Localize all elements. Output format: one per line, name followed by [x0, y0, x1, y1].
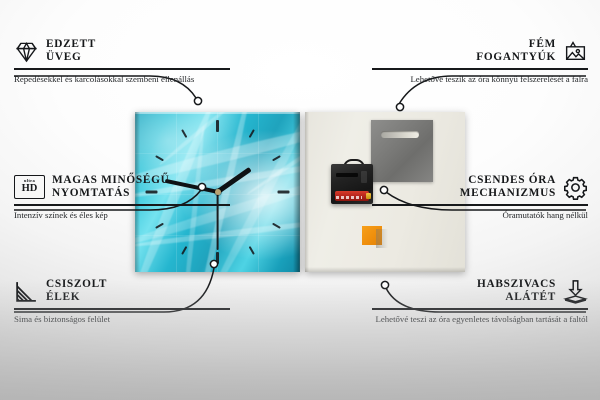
hanger-slot	[381, 131, 419, 138]
quartz-mechanism	[331, 164, 373, 204]
ultra-hd-large-label: HD	[22, 184, 38, 195]
callout-description: Repedésekkel és karcolásokkal szembeni e…	[14, 74, 230, 85]
battery-label	[336, 196, 362, 199]
callout-foam-backing: HABSZIVACSALÁTÉT Lehetővé teszi az óra e…	[372, 278, 588, 325]
callout-tempered-glass: EDZETTÜVEG Repedésekkel és karcolásokkal…	[14, 38, 230, 85]
mechanism-vent	[336, 173, 358, 177]
callout-rule	[372, 68, 588, 70]
arrow-onto-pad-icon	[563, 279, 588, 304]
callout-title: FÉMFOGANTYÚK	[476, 38, 556, 64]
beveled-edge-icon	[14, 279, 39, 304]
callout-rule	[372, 204, 588, 206]
callout-rule	[14, 68, 230, 70]
callout-polished-edges: CSISZOLTÉLEK Sima és biztonságos felület	[14, 278, 230, 325]
callout-rule	[372, 308, 588, 310]
callout-title: CSENDES ÓRAMECHANIZMUS	[460, 174, 556, 200]
back-bottom-shadow	[305, 267, 465, 272]
connector-dot-handles	[396, 103, 403, 110]
callout-title: CSISZOLTÉLEK	[46, 278, 107, 304]
callout-description: Lehetővé teszik az óra könnyű felszerelé…	[372, 74, 588, 85]
ultra-hd-badge-icon: ultra HD	[14, 175, 45, 199]
foam-spacer-pad	[362, 226, 382, 245]
callout-rule	[14, 308, 230, 310]
callout-description: Intenzív színek és éles kép	[14, 210, 230, 221]
mechanism-dial	[361, 171, 367, 183]
callout-rule	[14, 204, 230, 206]
mechanism-body	[331, 164, 373, 204]
callout-title: EDZETTÜVEG	[46, 38, 96, 64]
callout-title: HABSZIVACSALÁTÉT	[477, 278, 556, 304]
callout-description: Óramutatók hang nélkül	[372, 210, 588, 221]
callout-silent-mechanism: CSENDES ÓRAMECHANIZMUS Óramutatók hang n…	[372, 174, 588, 221]
picture-hanger-icon	[563, 39, 588, 64]
callout-description: Lehetővé teszi az óra egyenletes távolsá…	[372, 314, 588, 325]
diamond-icon	[14, 39, 39, 64]
connector-dot-tempered-glass	[194, 97, 201, 104]
metal-hanger-plate	[371, 120, 433, 182]
back-left-shadow	[305, 112, 309, 272]
infographic-canvas: EDZETTÜVEG Repedésekkel és karcolásokkal…	[0, 0, 600, 400]
callout-title: MAGAS MINŐSÉGŰNYOMTATÁS	[52, 174, 169, 200]
callout-high-quality-print: ultra HD MAGAS MINŐSÉGŰNYOMTATÁS Intenzí…	[14, 174, 230, 221]
gear-icon	[563, 175, 588, 200]
callout-description: Sima és biztonságos felület	[14, 314, 230, 325]
callout-metal-handles: FÉMFOGANTYÚK Lehetővé teszik az óra könn…	[372, 38, 588, 85]
